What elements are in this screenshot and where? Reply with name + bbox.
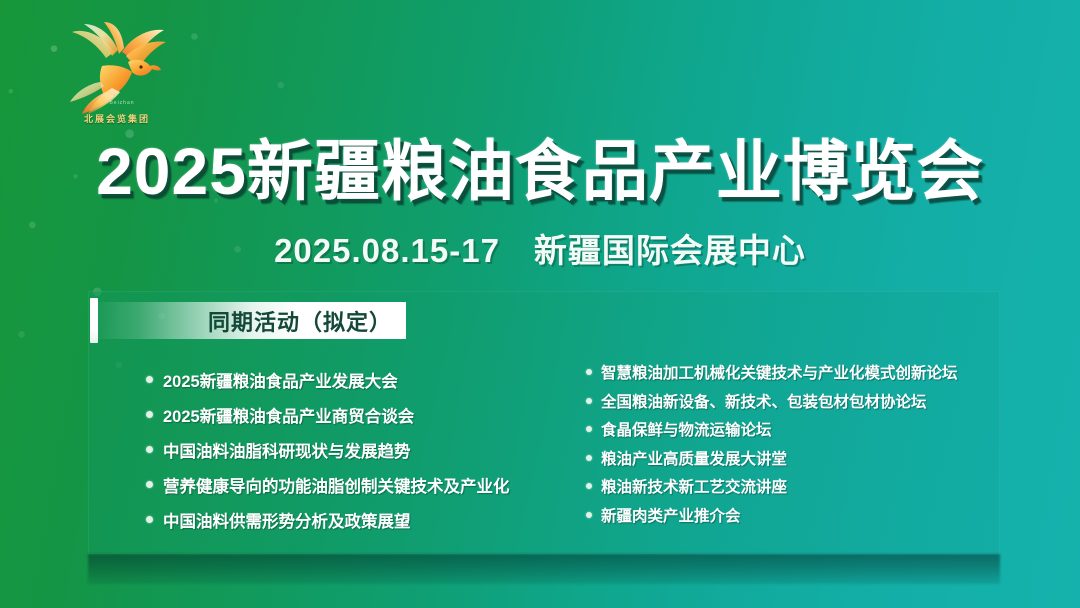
bullet-icon [146,446,153,453]
bullet-icon [146,411,153,418]
list-item[interactable]: 2025新疆粮油食品产业发展大会 [146,362,586,397]
list-item-label: 粮油产业高质量发展大讲堂 [601,447,787,469]
bullet-icon [146,516,153,523]
bullet-icon [586,483,592,489]
list-item[interactable]: 营养健康导向的功能油脂创制关键技术及产业化 [146,467,586,502]
page-subtitle: 2025.08.15-17 新疆国际会展中心 [0,224,1080,272]
events-column-right: 智慧粮油加工机械化关键技术与产业化模式创新论坛 全国粮油新设备、新技术、包装包材… [586,350,1000,550]
poster-canvas: Beizhan 北展会览集团 2025新疆粮油食品产业博览会 2025.08.1… [0,0,1080,608]
events-columns: 2025新疆粮油食品产业发展大会 2025新疆粮油食品产业商贸合谈会 中国油料油… [88,350,1000,550]
bullet-icon [586,369,592,375]
list-item-label: 中国油料供需形势分析及政策展望 [163,508,411,532]
events-column-left: 2025新疆粮油食品产业发展大会 2025新疆粮油食品产业商贸合谈会 中国油料油… [88,350,586,550]
bullet-icon [146,376,153,383]
list-item[interactable]: 2025新疆粮油食品产业商贸合谈会 [146,397,586,432]
list-item[interactable]: 新疆肉类产业推介会 [586,501,1000,530]
brand-pinyin: Beizhan [76,100,168,106]
list-item-label: 新疆肉类产业推介会 [601,504,741,526]
list-item[interactable]: 中国油料供需形势分析及政策展望 [146,502,586,537]
bullet-icon [146,481,153,488]
events-panel-shadow [88,554,1000,584]
list-item[interactable]: 全国粮油新设备、新技术、包装包材包材协论坛 [586,387,1000,416]
list-item[interactable]: 中国油料油脂科研现状与发展趋势 [146,432,586,467]
page-title: 2025新疆粮油食品产业博览会 [0,138,1080,204]
list-item[interactable]: 粮油新技术新工艺交流讲座 [586,472,1000,501]
list-item[interactable]: 食晶保鲜与物流运输论坛 [586,415,1000,444]
list-item-label: 粮油新技术新工艺交流讲座 [601,475,787,497]
section-header-label: 同期活动（拟定） [208,305,406,337]
bullet-icon [586,398,592,404]
list-item-label: 营养健康导向的功能油脂创制关键技术及产业化 [163,473,510,497]
list-item-label: 2025新疆粮油食品产业商贸合谈会 [163,403,414,427]
bullet-icon [586,426,592,432]
section-header-banner: 同期活动（拟定） [88,302,406,339]
list-item-label: 全国粮油新设备、新技术、包装包材包材协论坛 [601,390,927,412]
list-item[interactable]: 智慧粮油加工机械化关键技术与产业化模式创新论坛 [586,358,1000,387]
list-item-label: 智慧粮油加工机械化关键技术与产业化模式创新论坛 [601,361,958,383]
bullet-icon [586,455,592,461]
list-item-label: 2025新疆粮油食品产业发展大会 [163,368,398,392]
bullet-icon [586,512,592,518]
list-item-label: 中国油料油脂科研现状与发展趋势 [163,438,411,462]
brand-logo[interactable]: Beizhan 北展会览集团 [62,22,172,134]
list-item[interactable]: 粮油产业高质量发展大讲堂 [586,444,1000,473]
list-item-label: 食晶保鲜与物流运输论坛 [601,418,772,440]
brand-name: 北展会览集团 [66,112,168,125]
